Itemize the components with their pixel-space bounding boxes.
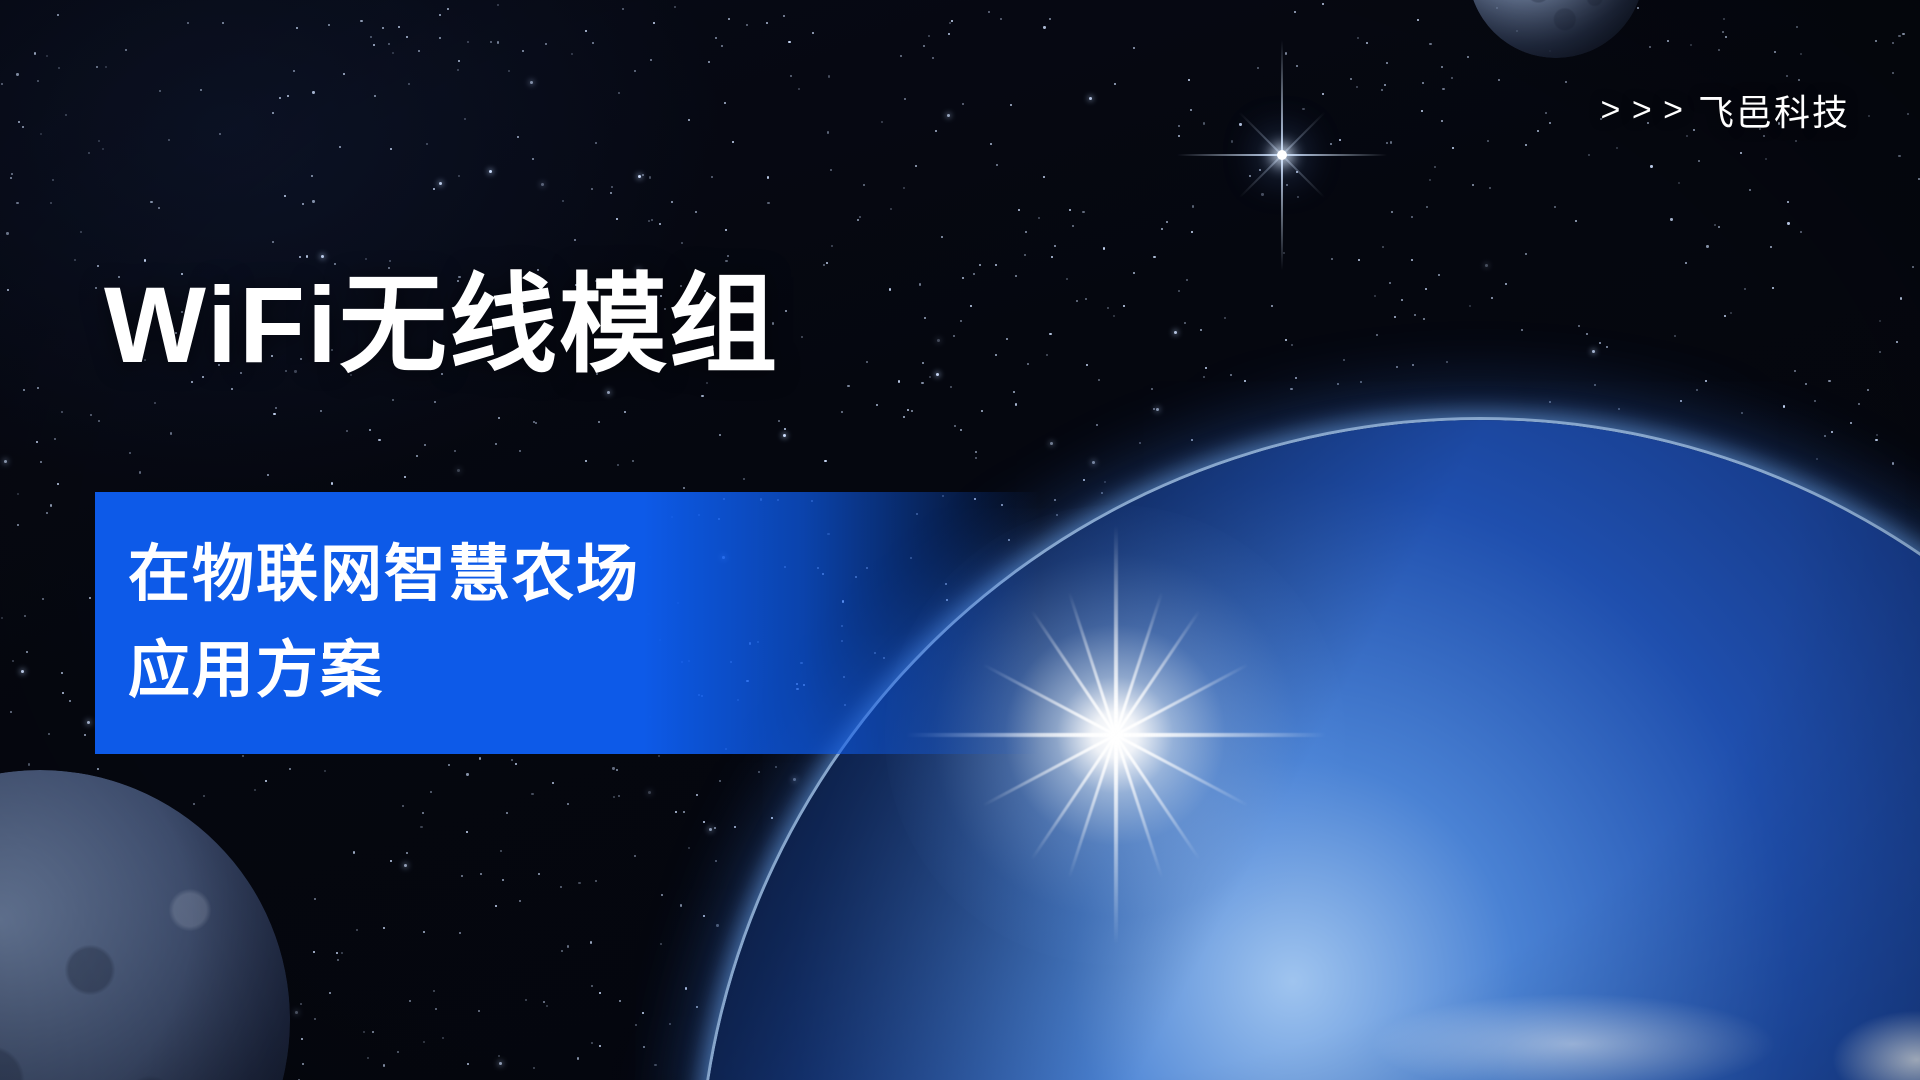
slide-canvas: > > > 飞邑科技 WiFi无线模组 在物联网智慧农场 应用方案 bbox=[0, 0, 1920, 1080]
brand-name: 飞邑科技 bbox=[1698, 84, 1850, 136]
chevron-right-icon: > > > bbox=[1601, 91, 1684, 130]
page-title: WiFi无线模组 bbox=[104, 268, 779, 382]
subtitle-banner: 在物联网智慧农场 应用方案 bbox=[95, 492, 1040, 754]
subtitle-line-2: 应用方案 bbox=[128, 623, 1040, 719]
subtitle-line-1: 在物联网智慧农场 bbox=[128, 527, 1040, 623]
brand-logo: > > > 飞邑科技 bbox=[1601, 84, 1850, 136]
